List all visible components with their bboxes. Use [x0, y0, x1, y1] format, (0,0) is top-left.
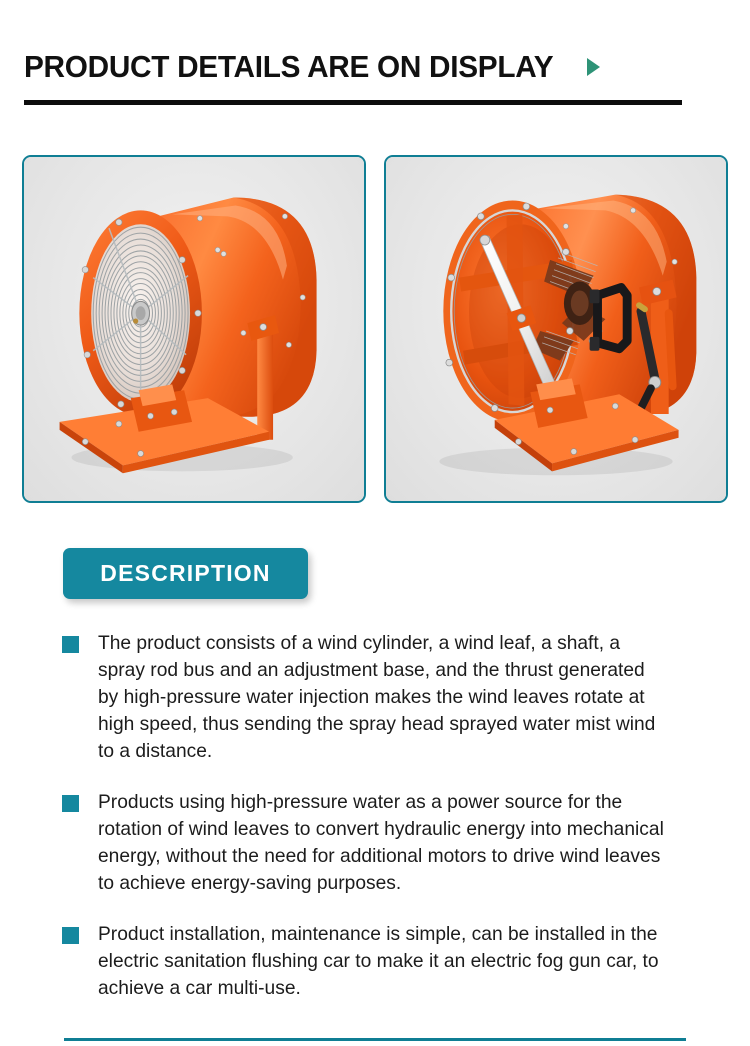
page-header: PRODUCT DETAILS ARE ON DISPLAY — [24, 44, 726, 88]
product-details-page: PRODUCT DETAILS ARE ON DISPLAY — [0, 0, 750, 1046]
footer-divider — [64, 1038, 686, 1041]
product-photo-front — [24, 157, 364, 501]
header-divider — [24, 100, 682, 105]
tab-description-label: DESCRIPTION — [100, 560, 270, 587]
square-bullet-icon — [62, 636, 79, 653]
list-item: Product installation, maintenance is sim… — [62, 921, 674, 1002]
product-gallery — [22, 155, 728, 503]
page-title: PRODUCT DETAILS ARE ON DISPLAY — [24, 51, 553, 82]
fan-front-illustration — [24, 157, 364, 501]
list-item: Products using high-pressure water as a … — [62, 789, 674, 897]
list-item-text: Product installation, maintenance is sim… — [98, 921, 665, 1002]
square-bullet-icon — [62, 927, 79, 944]
fan-rear-illustration — [386, 157, 726, 501]
product-photo-rear — [386, 157, 726, 501]
product-photo-card-front[interactable] — [22, 155, 366, 503]
triangle-right-icon — [587, 58, 600, 76]
list-item: The product consists of a wind cylinder,… — [62, 630, 674, 765]
header-title-row: PRODUCT DETAILS ARE ON DISPLAY — [24, 44, 726, 88]
list-item-text: The product consists of a wind cylinder,… — [98, 630, 665, 765]
tab-description[interactable]: DESCRIPTION — [63, 548, 308, 599]
list-item-text: Products using high-pressure water as a … — [98, 789, 665, 897]
square-bullet-icon — [62, 795, 79, 812]
product-photo-card-rear[interactable] — [384, 155, 728, 503]
description-list: The product consists of a wind cylinder,… — [62, 630, 674, 1026]
